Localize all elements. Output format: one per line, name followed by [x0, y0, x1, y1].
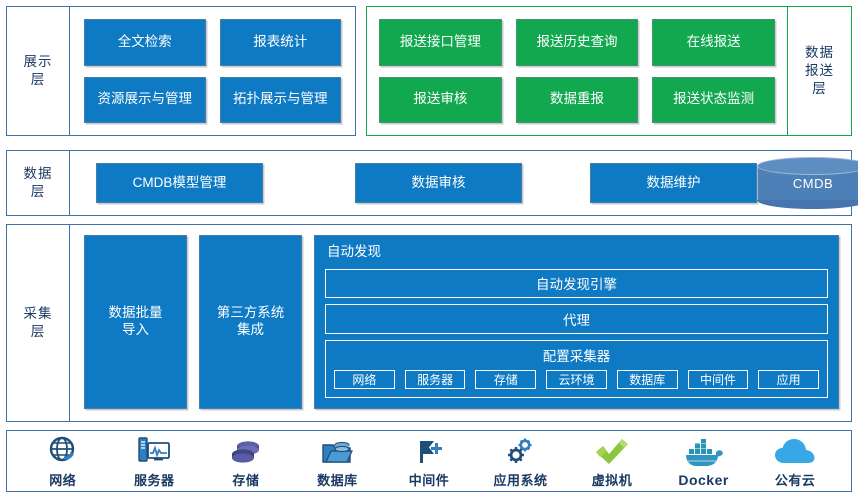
data-reporting-layer-panel: 报送接口管理 报送历史查询 在线报送 报送审核 数据重报 报送状态监测 数据 报…: [366, 6, 852, 136]
auto-discovery-container: 自动发现 自动发现引擎 代理 配置采集器 网络 服务器 存储 云环境 数据库 中…: [314, 235, 839, 409]
data-box-data-maintenance[interactable]: 数据维护: [590, 163, 757, 203]
agent-box[interactable]: 代理: [325, 304, 828, 334]
configuration-collector-container: 配置采集器 网络 服务器 存储 云环境 数据库 中间件 应用: [325, 340, 828, 398]
architecture-diagram: 展示 层 全文检索 报表统计 资源展示与管理 拓扑展示与管理 报送接口管理 报送…: [0, 0, 858, 500]
resource-label-application-system: 应用系统: [493, 470, 547, 489]
public-cloud-icon: [775, 433, 815, 467]
report-box-online-reporting[interactable]: 在线报送: [652, 19, 775, 66]
data-reporting-layer-label: 数据 报送 层: [787, 7, 851, 135]
resource-item-virtual-machine[interactable]: 虚拟机: [569, 433, 655, 489]
configuration-collector-title: 配置采集器: [334, 345, 819, 365]
collection-layer-body: 数据批量 导入 第三方系统 集成 自动发现 自动发现引擎 代理 配置采集器 网络…: [70, 225, 851, 421]
report-box-data-resubmission[interactable]: 数据重报: [516, 77, 639, 124]
vm-check-icon: [594, 433, 630, 467]
resource-label-middleware: 中间件: [409, 470, 450, 489]
collection-layer-label: 采集 层: [7, 225, 70, 421]
collector-chip-middleware[interactable]: 中间件: [688, 370, 749, 389]
resource-item-storage[interactable]: 存储: [203, 433, 289, 489]
data-reporting-layer-body: 报送接口管理 报送历史查询 在线报送 报送审核 数据重报 报送状态监测: [367, 7, 787, 135]
resource-label-virtual-machine: 虚拟机: [592, 470, 633, 489]
storage-disks-icon: [229, 433, 263, 467]
globe-network-icon: [47, 433, 79, 467]
display-layer-label: 展示 层: [7, 7, 70, 135]
report-box-report-review[interactable]: 报送审核: [379, 77, 502, 124]
resource-label-public-cloud: 公有云: [775, 470, 816, 489]
collector-chip-cloud-environment[interactable]: 云环境: [546, 370, 607, 389]
auto-discovery-engine-box[interactable]: 自动发现引擎: [325, 269, 828, 299]
resource-item-network[interactable]: 网络: [20, 433, 106, 489]
auto-discovery-title: 自动发现: [325, 242, 828, 263]
data-box-data-review[interactable]: 数据审核: [355, 163, 522, 203]
resource-icon-bar: 网络 服务器: [6, 430, 852, 492]
resource-label-storage: 存储: [232, 470, 259, 489]
resource-item-docker[interactable]: Docker: [661, 435, 747, 488]
resource-label-server: 服务器: [134, 470, 175, 489]
report-box-history-query[interactable]: 报送历史查询: [516, 19, 639, 66]
collector-chip-storage[interactable]: 存储: [475, 370, 536, 389]
display-box-report-statistics[interactable]: 报表统计: [220, 19, 342, 66]
middleware-flag-icon: [414, 433, 444, 467]
server-monitor-icon: [137, 433, 171, 467]
resource-item-server[interactable]: 服务器: [111, 433, 197, 489]
docker-whale-icon: [684, 435, 724, 469]
data-layer-panel: 数据 层 CMDB模型管理 数据审核 数据维护 CMDB: [6, 150, 852, 216]
display-box-fulltext-search[interactable]: 全文检索: [84, 19, 206, 66]
collector-chip-network[interactable]: 网络: [334, 370, 395, 389]
resource-label-docker: Docker: [678, 472, 728, 488]
cmdb-database-label: CMDB: [757, 157, 858, 209]
resource-label-network: 网络: [49, 470, 76, 489]
data-box-cmdb-model-management[interactable]: CMDB模型管理: [96, 163, 263, 203]
data-layer-body: CMDB模型管理 数据审核 数据维护 CMDB: [70, 151, 858, 215]
display-box-topology-display-management[interactable]: 拓扑展示与管理: [220, 77, 342, 124]
resource-item-application-system[interactable]: 应用系统: [478, 433, 564, 489]
cmdb-database-cylinder: CMDB: [757, 157, 858, 209]
gears-application-icon: [505, 433, 537, 467]
resource-item-database[interactable]: 数据库: [294, 433, 380, 489]
collector-chip-server[interactable]: 服务器: [405, 370, 466, 389]
data-layer-label: 数据 层: [7, 151, 70, 215]
collector-chip-database[interactable]: 数据库: [617, 370, 678, 389]
display-box-resource-display-management[interactable]: 资源展示与管理: [84, 77, 206, 124]
report-box-status-monitoring[interactable]: 报送状态监测: [652, 77, 775, 124]
collect-box-bulk-data-import[interactable]: 数据批量 导入: [84, 235, 187, 409]
collector-chip-list: 网络 服务器 存储 云环境 数据库 中间件 应用: [334, 370, 819, 389]
collector-chip-application[interactable]: 应用: [758, 370, 819, 389]
resource-label-database: 数据库: [317, 470, 358, 489]
collection-layer-panel: 采集 层 数据批量 导入 第三方系统 集成 自动发现 自动发现引擎 代理 配置采…: [6, 224, 852, 422]
resource-item-public-cloud[interactable]: 公有云: [752, 433, 838, 489]
resource-item-middleware[interactable]: 中间件: [386, 433, 472, 489]
database-folder-icon: [320, 433, 354, 467]
collect-box-third-party-integration[interactable]: 第三方系统 集成: [199, 235, 302, 409]
report-box-interface-management[interactable]: 报送接口管理: [379, 19, 502, 66]
display-layer-panel: 展示 层 全文检索 报表统计 资源展示与管理 拓扑展示与管理: [6, 6, 356, 136]
display-layer-body: 全文检索 报表统计 资源展示与管理 拓扑展示与管理: [70, 7, 355, 135]
